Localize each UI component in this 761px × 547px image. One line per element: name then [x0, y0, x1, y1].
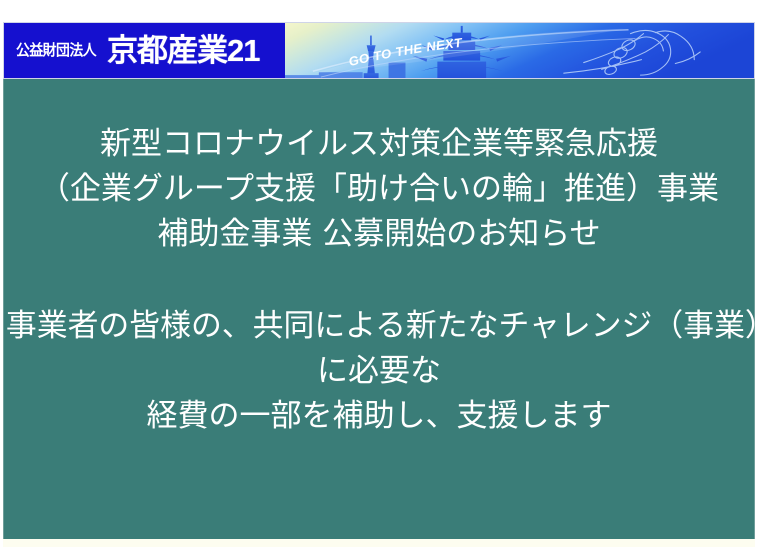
title-line-1: 新型コロナウイルス対策企業等緊急応援 — [4, 129, 754, 160]
page-root: 公益財団法人 京都産業21 — [0, 0, 761, 547]
content-panel: 新型コロナウイルス対策企業等緊急応援 （企業グループ支援「助け合いの輪」推進）事… — [3, 79, 755, 539]
logo-name-label: 京都産業21 — [107, 35, 259, 66]
footer-strip — [3, 539, 755, 547]
logo-prefix-label: 公益財団法人 — [16, 43, 96, 58]
banner-artwork: GO TO THE NEXT — [285, 23, 754, 78]
site-header-banner[interactable]: 公益財団法人 京都産業21 — [3, 22, 755, 79]
title-line-2: （企業グループ支援「助け合いの輪」推進）事業 — [4, 174, 754, 205]
announcement-title: 新型コロナウイルス対策企業等緊急応援 （企業グループ支援「助け合いの輪」推進）事… — [4, 129, 754, 264]
body-line-1: 事業者の皆様の、共同による新たなチャレンジ（事業） — [6, 311, 752, 342]
announcement-body: 事業者の皆様の、共同による新たなチャレンジ（事業） に必要な 経費の一部を補助し… — [4, 311, 754, 446]
title-line-3: 補助金事業 公募開始のお知らせ — [4, 219, 754, 250]
body-line-2: に必要な — [4, 356, 754, 387]
body-line-3: 経費の一部を補助し、支援します — [4, 401, 754, 432]
organization-logo[interactable]: 公益財団法人 京都産業21 — [4, 23, 285, 78]
